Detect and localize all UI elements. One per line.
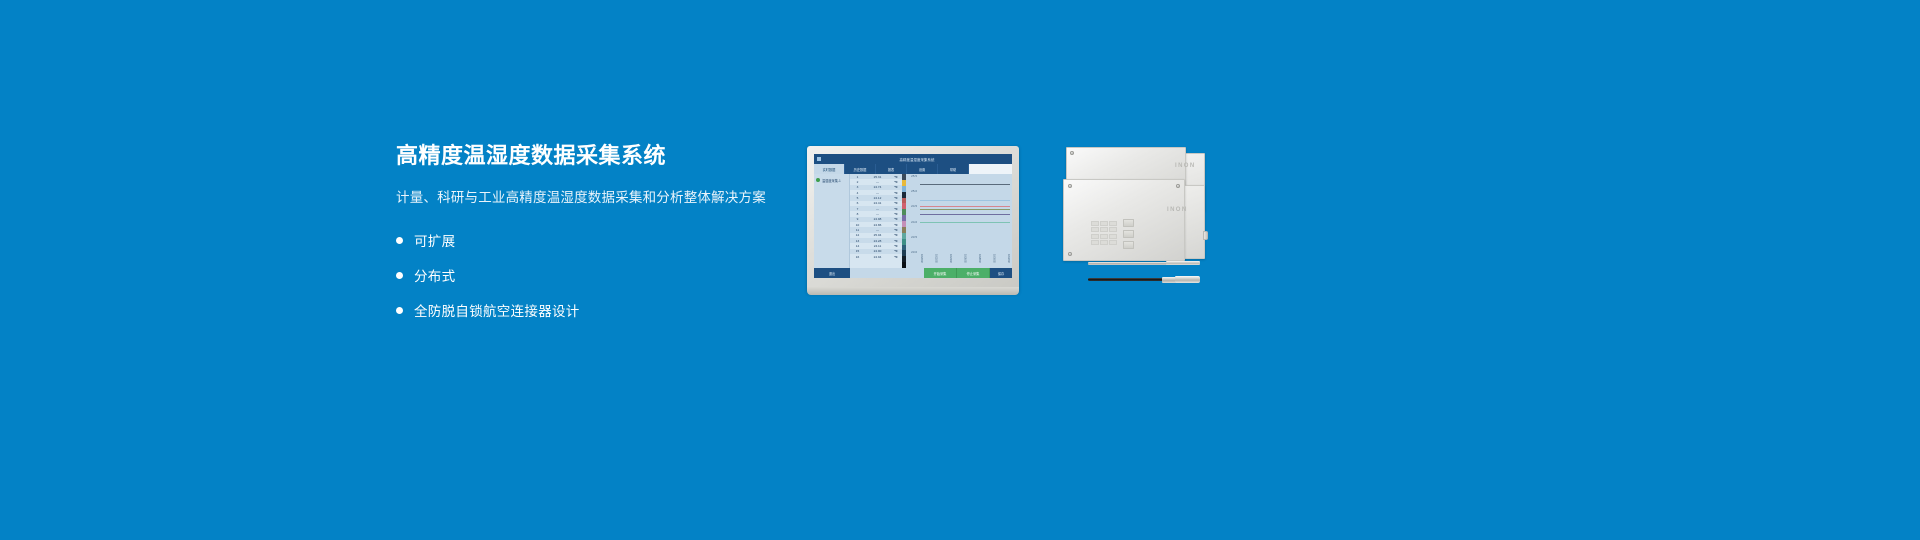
table-row[interactable]: 2 --- ℃ bbox=[850, 179, 902, 184]
app-tabbar: 实时数据 历史数据 报表 设置 帮助 bbox=[814, 164, 1012, 174]
x-tick-label: 10:32:02 bbox=[1007, 254, 1010, 266]
cell-value: 24.11 bbox=[865, 244, 890, 248]
connector-port-icon bbox=[1123, 219, 1134, 227]
cell-value: 24.94 bbox=[865, 255, 890, 259]
cell-channel: 16 bbox=[850, 255, 865, 259]
chart-series-line bbox=[920, 209, 1010, 210]
cell-unit: ℃ bbox=[890, 201, 902, 205]
cell-value: --- bbox=[865, 191, 890, 195]
footer-spacer bbox=[850, 268, 924, 278]
cell-channel: 2 bbox=[850, 180, 865, 184]
table-row[interactable]: 6 24.41 ℃ bbox=[850, 201, 902, 206]
bullet-dot-icon bbox=[396, 307, 403, 314]
table-row[interactable]: 3 24.74 ℃ bbox=[850, 185, 902, 190]
cell-channel: 9 bbox=[850, 217, 865, 221]
app-title: 高精度温湿度采集系统 bbox=[825, 157, 1009, 162]
cell-value: --- bbox=[865, 207, 890, 211]
brand-label: INON bbox=[1175, 163, 1196, 169]
feature-label: 可扩展 bbox=[414, 230, 455, 250]
product-monitor: 高精度温湿度采集系统 实时数据 历史数据 报表 设置 帮助 温湿度采集-1 bbox=[807, 146, 1019, 293]
label-cell bbox=[1100, 234, 1108, 239]
chart-series-line bbox=[920, 200, 1010, 201]
y-tick-label: 25.0 bbox=[906, 189, 918, 193]
y-tick-label: 24.5 bbox=[906, 204, 918, 208]
tree-item-device[interactable]: 温湿度采集-1 bbox=[816, 177, 847, 183]
x-tick-label: 10:28:02 bbox=[978, 254, 981, 266]
cell-unit: ℃ bbox=[890, 180, 902, 184]
screw-icon bbox=[1176, 184, 1180, 188]
stainless-temperature-probe bbox=[1088, 261, 1200, 265]
x-tick-label: 10:26:02 bbox=[964, 254, 967, 266]
x-tick-label: 10:24:02 bbox=[949, 254, 952, 266]
status-dot-icon bbox=[816, 178, 820, 182]
cell-value: 24.98 bbox=[865, 217, 890, 221]
cell-value: 24.41 bbox=[865, 201, 890, 205]
cell-channel: 11 bbox=[850, 228, 865, 232]
cell-channel: 15 bbox=[850, 249, 865, 253]
connector-port-icon bbox=[1123, 230, 1134, 238]
list-item: 全防脱自锁航空连接器设计 bbox=[396, 297, 796, 323]
hero-copy-block: 高精度温湿度数据采集系统 计量、科研与工业高精度温湿度数据采集和分析整体解决方案… bbox=[396, 143, 796, 332]
cell-unit: ℃ bbox=[890, 239, 902, 243]
cell-channel: 8 bbox=[850, 212, 865, 216]
probe-rod bbox=[1088, 262, 1168, 265]
app-titlebar: 高精度温湿度采集系统 bbox=[814, 154, 1012, 164]
label-cell bbox=[1100, 221, 1108, 226]
label-cell bbox=[1091, 227, 1099, 232]
chart-series-line bbox=[920, 184, 1010, 185]
chart-series-line bbox=[920, 222, 1010, 223]
screw-icon bbox=[1070, 151, 1074, 155]
probe-handle bbox=[1166, 261, 1200, 265]
tabbar-filler bbox=[969, 164, 1012, 174]
cell-unit: ℃ bbox=[890, 212, 902, 216]
tab-help[interactable]: 帮助 bbox=[938, 164, 969, 174]
table-row[interactable]: 14 24.11 ℃ bbox=[850, 243, 902, 248]
feature-list: 可扩展 分布式 全防脱自锁航空连接器设计 bbox=[396, 227, 796, 323]
label-cell bbox=[1100, 227, 1108, 232]
feature-label: 分布式 bbox=[414, 265, 455, 285]
cell-value: 24.90 bbox=[865, 249, 890, 253]
table-row[interactable]: 10 24.86 ℃ bbox=[850, 222, 902, 227]
label-cell bbox=[1091, 234, 1099, 239]
label-cell bbox=[1091, 221, 1099, 226]
table-row[interactable]: 1 25.31 ℃ bbox=[850, 174, 902, 179]
cell-channel: 12 bbox=[850, 233, 865, 237]
x-tick-label: 10:20:02 bbox=[920, 254, 923, 266]
probe-barrel bbox=[1175, 276, 1200, 283]
label-cell bbox=[1100, 240, 1108, 245]
cell-channel: 6 bbox=[850, 201, 865, 205]
brand-label: INON bbox=[1167, 207, 1188, 213]
cell-unit: ℃ bbox=[890, 175, 902, 179]
app-footer-toolbar: 退出 开始采集 停止采集 保存 bbox=[814, 268, 1012, 278]
screw-icon bbox=[1068, 184, 1072, 188]
screw-icon bbox=[1068, 252, 1072, 256]
stop-acquisition-button[interactable]: 停止采集 bbox=[957, 268, 990, 278]
cell-unit: ℃ bbox=[890, 207, 902, 211]
chart-y-axis: 25.525.024.524.023.523.0 bbox=[906, 174, 918, 254]
cell-value: 25.04 bbox=[865, 233, 890, 237]
tab-reports[interactable]: 报表 bbox=[876, 164, 907, 174]
cell-unit: ℃ bbox=[890, 249, 902, 253]
cell-channel: 7 bbox=[850, 207, 865, 211]
cell-value: 24.86 bbox=[865, 223, 890, 227]
connector-port-icon bbox=[1123, 241, 1134, 249]
module-connector-ports bbox=[1123, 219, 1134, 249]
monitor-base bbox=[807, 287, 1019, 295]
tree-item-label: 温湿度采集-1 bbox=[822, 178, 841, 183]
probe-ferrule bbox=[1162, 277, 1176, 283]
table-row[interactable]: 11 --- ℃ bbox=[850, 227, 902, 232]
table-row[interactable]: 16 24.94 ℃ bbox=[850, 254, 902, 259]
device-tree-panel: 温湿度采集-1 bbox=[814, 174, 850, 268]
y-tick-label: 24.0 bbox=[906, 220, 918, 224]
y-tick-label: 25.5 bbox=[906, 174, 918, 178]
cell-value: 24.74 bbox=[865, 185, 890, 189]
y-tick-label: 23.0 bbox=[906, 250, 918, 254]
table-row[interactable]: 4 --- ℃ bbox=[850, 190, 902, 195]
chart-x-axis: 10:20:0210:22:0210:24:0210:26:0210:28:02… bbox=[920, 254, 1010, 266]
tab-settings[interactable]: 设置 bbox=[907, 164, 938, 174]
exit-button[interactable]: 退出 bbox=[814, 268, 850, 278]
cell-unit: ℃ bbox=[890, 196, 902, 200]
cell-unit: ℃ bbox=[890, 228, 902, 232]
table-row[interactable]: 15 24.90 ℃ bbox=[850, 249, 902, 254]
cell-value: 25.31 bbox=[865, 175, 890, 179]
page-title: 高精度温湿度数据采集系统 bbox=[396, 143, 796, 169]
list-item: 分布式 bbox=[396, 262, 796, 288]
cell-channel: 5 bbox=[850, 196, 865, 200]
table-row[interactable]: 13 24.28 ℃ bbox=[850, 238, 902, 243]
chart-series-line bbox=[920, 206, 1010, 207]
x-tick-label: 10:22:02 bbox=[935, 254, 938, 266]
cell-value: --- bbox=[865, 228, 890, 232]
table-row[interactable]: 12 25.04 ℃ bbox=[850, 233, 902, 238]
cell-channel: 1 bbox=[850, 175, 865, 179]
x-tick-label: 10:30:02 bbox=[993, 254, 996, 266]
cell-channel: 14 bbox=[850, 244, 865, 248]
module-label-grid bbox=[1091, 221, 1117, 245]
label-cell bbox=[1091, 240, 1099, 245]
table-row[interactable]: 9 24.98 ℃ bbox=[850, 217, 902, 222]
channel-value-table: 1 25.31 ℃ 2 --- ℃ 3 24.74 ℃ bbox=[850, 174, 902, 268]
list-item: 可扩展 bbox=[396, 227, 796, 253]
feature-label: 全防脱自锁航空连接器设计 bbox=[414, 300, 580, 320]
page-subtitle: 计量、科研与工业高精度温湿度数据采集和分析整体解决方案 bbox=[396, 189, 796, 207]
cell-channel: 10 bbox=[850, 223, 865, 227]
label-cell bbox=[1109, 221, 1117, 226]
cell-unit: ℃ bbox=[890, 223, 902, 227]
table-row[interactable]: 7 --- ℃ bbox=[850, 206, 902, 211]
save-button[interactable]: 保存 bbox=[990, 268, 1012, 278]
bullet-dot-icon bbox=[396, 272, 403, 279]
cabled-humidity-probe bbox=[1088, 276, 1200, 283]
chart-series-line bbox=[920, 214, 1010, 215]
cell-value: 24.12 bbox=[865, 196, 890, 200]
cell-unit: ℃ bbox=[890, 217, 902, 221]
cell-channel: 4 bbox=[850, 191, 865, 195]
tab-realtime-data[interactable]: 实时数据 bbox=[814, 164, 845, 174]
cell-value: --- bbox=[865, 180, 890, 184]
cell-value: --- bbox=[865, 212, 890, 216]
chart-plot-area bbox=[920, 178, 1010, 252]
probe-cable bbox=[1088, 278, 1164, 281]
module-side-connector bbox=[1203, 231, 1208, 240]
cell-unit: ℃ bbox=[890, 233, 902, 237]
cell-unit: ℃ bbox=[890, 191, 902, 195]
app-body: 温湿度采集-1 1 25.31 ℃ 2 --- ℃ 3 bbox=[814, 174, 1012, 268]
label-cell bbox=[1109, 240, 1117, 245]
app-logo-icon bbox=[817, 157, 821, 161]
table-row[interactable]: 5 24.12 ℃ bbox=[850, 195, 902, 200]
cell-unit: ℃ bbox=[890, 255, 902, 259]
bullet-dot-icon bbox=[396, 237, 403, 244]
cell-unit: ℃ bbox=[890, 185, 902, 189]
label-cell bbox=[1109, 227, 1117, 232]
cell-channel: 3 bbox=[850, 185, 865, 189]
cell-unit: ℃ bbox=[890, 244, 902, 248]
cell-channel: 13 bbox=[850, 239, 865, 243]
cell-value: 24.28 bbox=[865, 239, 890, 243]
y-tick-label: 23.5 bbox=[906, 235, 918, 239]
label-cell bbox=[1109, 234, 1117, 239]
monitor-screen: 高精度温湿度采集系统 实时数据 历史数据 报表 设置 帮助 温湿度采集-1 bbox=[814, 154, 1012, 278]
tab-history-data[interactable]: 历史数据 bbox=[845, 164, 876, 174]
table-row[interactable]: 8 --- ℃ bbox=[850, 211, 902, 216]
start-acquisition-button[interactable]: 开始采集 bbox=[924, 268, 957, 278]
realtime-trend-chart: 25.525.024.524.023.523.0 10:20:0210:22:0… bbox=[906, 174, 1012, 268]
hero-banner: 高精度温湿度数据采集系统 计量、科研与工业高精度温湿度数据采集和分析整体解决方案… bbox=[0, 0, 1920, 540]
